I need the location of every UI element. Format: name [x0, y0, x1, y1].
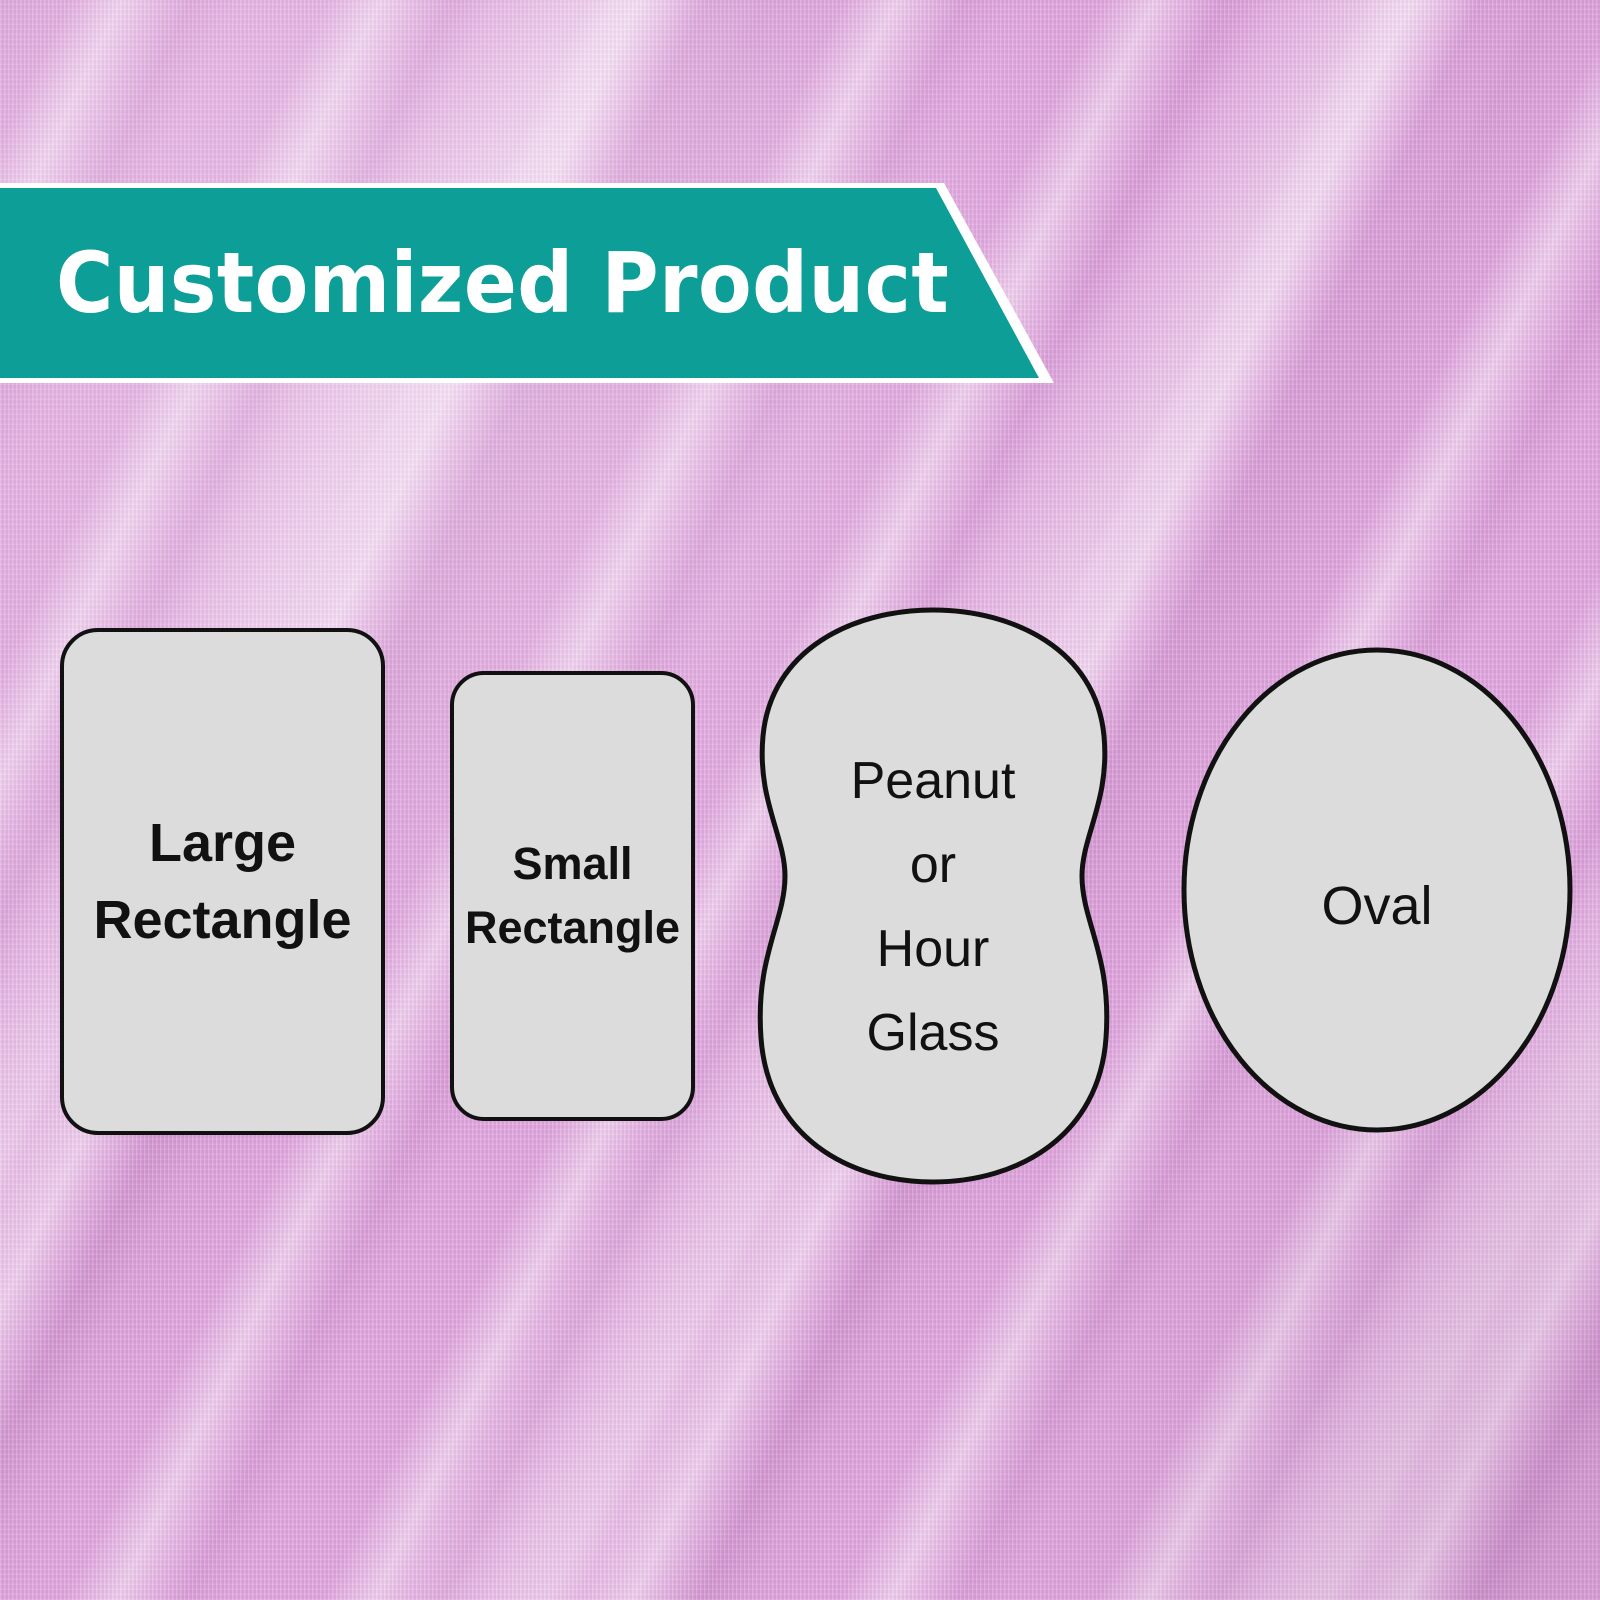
- shape-label-small-rectangle: Small Rectangle: [465, 832, 680, 960]
- product-infographic: Customized Product Large Rectangle Small…: [0, 0, 1600, 1600]
- page-title: Customized Product: [56, 183, 949, 383]
- shape-small-rectangle[interactable]: Small Rectangle: [450, 671, 695, 1121]
- shape-label-peanut-hourglass: Peanut or Hour Glass: [851, 739, 1016, 1076]
- shape-oval[interactable]: Oval: [1180, 646, 1574, 1134]
- shape-label-large-rectangle: Large Rectangle: [93, 805, 351, 958]
- shape-label-oval: Oval: [1321, 868, 1432, 945]
- shape-large-rectangle[interactable]: Large Rectangle: [60, 628, 385, 1135]
- shape-peanut-hourglass[interactable]: Peanut or Hour Glass: [752, 604, 1114, 1188]
- banner: Customized Product: [0, 183, 1058, 383]
